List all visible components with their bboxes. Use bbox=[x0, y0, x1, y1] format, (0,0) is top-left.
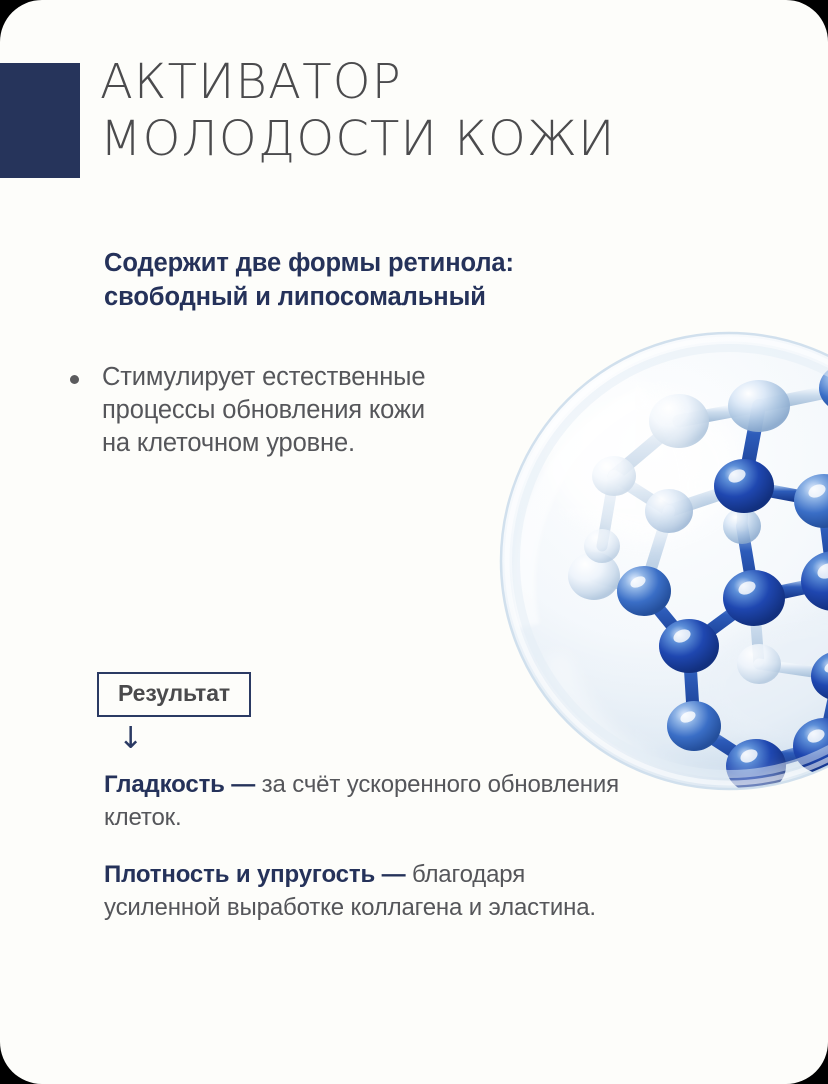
down-arrow-icon: ↓ bbox=[118, 722, 143, 756]
bullet-dot-icon bbox=[70, 375, 79, 384]
page-title: АКТИВАТОР МОЛОДОСТИ КОЖИ bbox=[100, 54, 800, 168]
result-item-term: Гладкость — bbox=[104, 771, 255, 798]
subheading: Содержит две формы ретинола: свободный и… bbox=[104, 246, 664, 314]
navy-accent-block bbox=[0, 63, 80, 178]
list-item-label: Стимулирует естественные процессы обновл… bbox=[102, 361, 425, 460]
result-item-term: Плотность и упругость — bbox=[104, 861, 405, 888]
promo-card: АКТИВАТОР МОЛОДОСТИ КОЖИ Содержит две фо… bbox=[0, 0, 828, 1084]
result-item: Гладкость — за счёт ускоренного обновлен… bbox=[104, 768, 624, 834]
molecule-in-bubble-photo bbox=[494, 326, 828, 806]
result-item: Плотность и упругость — благодаря усилен… bbox=[104, 858, 624, 924]
list-item: Стимулирует естественные процессы обновл… bbox=[70, 361, 540, 460]
result-badge: Результат bbox=[97, 672, 251, 717]
header: АКТИВАТОР МОЛОДОСТИ КОЖИ bbox=[0, 63, 828, 188]
